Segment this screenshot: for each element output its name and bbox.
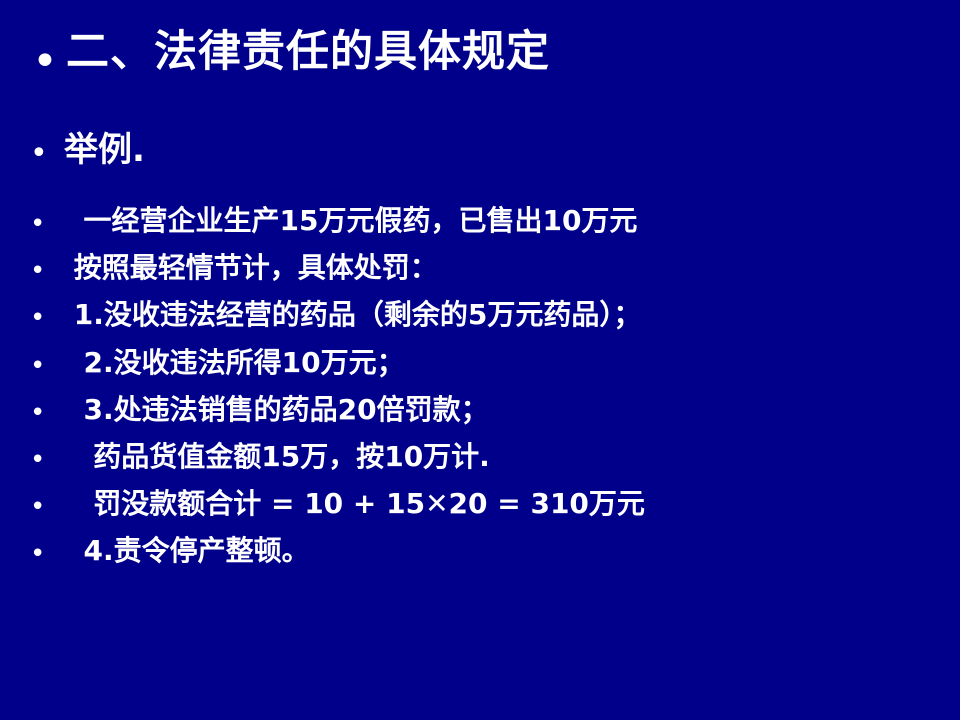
- body-line-text: 药品货值金额15万，按10万计.: [64, 441, 940, 473]
- body-line: • 药品货值金额15万，按10万计.: [30, 441, 940, 473]
- bullet-icon: •: [30, 305, 64, 331]
- body-line: • 1.没收违法经营的药品（剩余的5万元药品）；: [30, 299, 940, 331]
- bullet-icon: •: [30, 494, 64, 520]
- bullet-icon: •: [30, 400, 64, 426]
- slide-title-text: 二、法律责任的具体规定: [66, 28, 932, 77]
- body-line: • 罚没款额合计 = 10 + 15✕20 = 310万元: [30, 488, 940, 520]
- body-line-text: 一经营企业生产15万元假药，已售出10万元: [64, 205, 940, 237]
- bullet-icon: •: [30, 353, 64, 379]
- body-line-text: 2.没收违法所得10万元；: [64, 347, 940, 379]
- bullet-icon: •: [30, 211, 64, 237]
- slide: • 二、法律责任的具体规定 • 举例. • 一经营企业生产15万元假药，已售出1…: [0, 0, 960, 720]
- body-line-text: 罚没款额合计 = 10 + 15✕20 = 310万元: [64, 488, 940, 520]
- body-line: • 按照最轻情节计，具体处罚：: [30, 252, 940, 284]
- slide-subtitle: • 举例.: [30, 130, 930, 171]
- body-line: • 2.没收违法所得10万元；: [30, 347, 940, 379]
- slide-body: • 一经营企业生产15万元假药，已售出10万元 • 按照最轻情节计，具体处罚： …: [30, 205, 940, 583]
- body-line: • 4.责令停产整顿。: [30, 535, 940, 567]
- slide-subtitle-text: 举例.: [64, 130, 930, 171]
- bullet-icon: •: [30, 258, 64, 284]
- bullet-icon: •: [30, 447, 64, 473]
- body-line-text: 1.没收违法经营的药品（剩余的5万元药品）；: [64, 299, 940, 331]
- body-line-text: 按照最轻情节计，具体处罚：: [64, 252, 940, 284]
- body-line-text: 4.责令停产整顿。: [64, 535, 940, 567]
- body-line-text: 3.处违法销售的药品20倍罚款；: [64, 394, 940, 426]
- slide-title: • 二、法律责任的具体规定: [32, 28, 932, 84]
- body-line: • 一经营企业生产15万元假药，已售出10万元: [30, 205, 940, 237]
- bullet-icon: •: [30, 139, 64, 169]
- body-line: • 3.处违法销售的药品20倍罚款；: [30, 394, 940, 426]
- bullet-icon: •: [30, 541, 64, 567]
- bullet-icon: •: [32, 40, 66, 84]
